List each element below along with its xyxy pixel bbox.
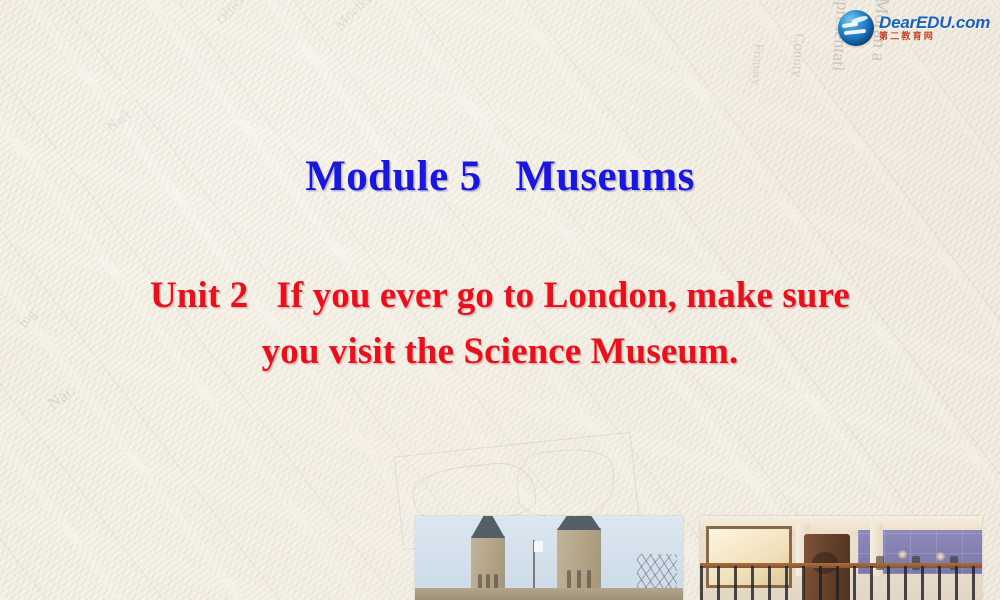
blue-globe-icon <box>838 10 874 46</box>
dearedu-logo[interactable]: DearEDU.com 第二教育网 <box>838 8 990 48</box>
photo-tower-right-spire <box>557 516 601 530</box>
unit-title: Unit 2 If you ever go to London, make su… <box>44 268 956 380</box>
unit-title-line-1: Unit 2 If you ever go to London, make su… <box>44 268 956 324</box>
photo-tower-left-spire <box>471 516 505 538</box>
photo-building-base <box>415 588 683 600</box>
presentation-slide: SUMMER, BUTT ARE VICTORS Koenig, Moran a… <box>0 0 1000 600</box>
logo-brand-name: DearEDU.com <box>879 14 990 31</box>
photo-museum-interior <box>700 516 982 600</box>
photo-museum-exterior <box>415 516 683 600</box>
photo-railing <box>700 566 982 600</box>
module-title: Module 5 Museums <box>0 152 1000 201</box>
logo-text-block: DearEDU.com 第二教育网 <box>879 14 990 42</box>
unit-title-line-2: you visit the Science Museum. <box>44 324 956 380</box>
photo-lamp <box>936 552 945 561</box>
photo-lamp <box>898 550 907 559</box>
photo-flag <box>534 541 543 552</box>
globe-wave-mid <box>842 22 858 28</box>
logo-brand-subtitle: 第二教育网 <box>879 33 990 42</box>
globe-wave-bottom <box>844 29 866 35</box>
